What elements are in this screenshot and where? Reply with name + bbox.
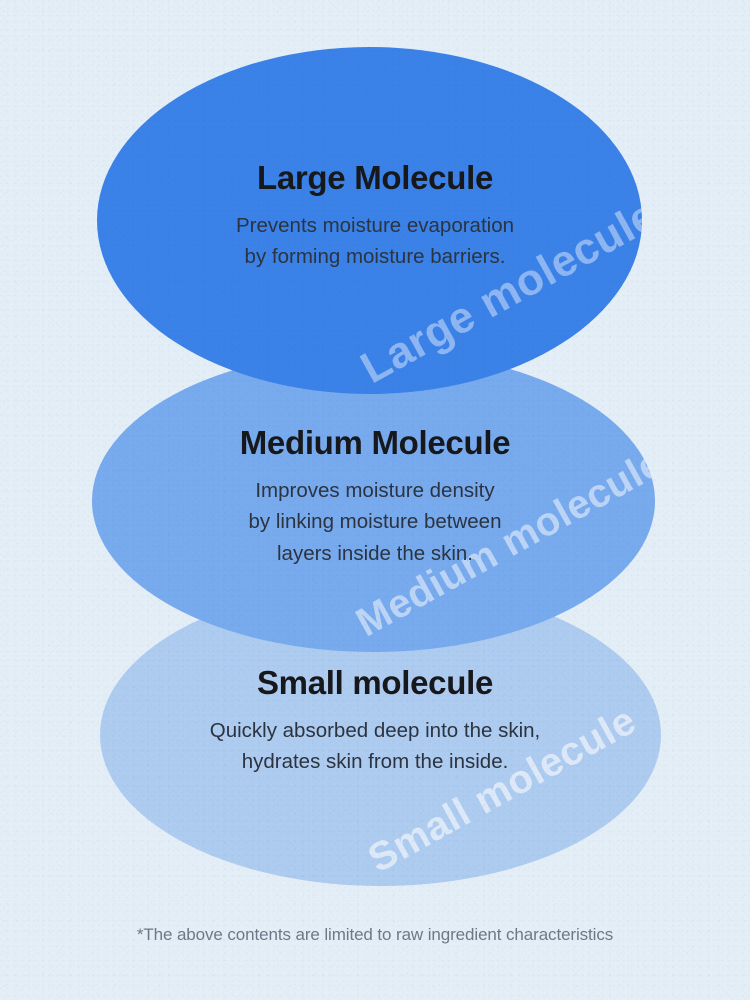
small-molecule-description-line-2: hydrates skin from the inside. — [0, 746, 750, 777]
large-molecule-title: Large Molecule — [0, 160, 750, 196]
small-molecule-description-line-1: Quickly absorbed deep into the skin, — [0, 715, 750, 746]
large-molecule-description: Prevents moisture evaporation by forming… — [0, 210, 750, 272]
medium-molecule-description-line-2: by linking moisture between — [0, 506, 750, 537]
molecule-size-infographic: Small molecule Medium molecule Large mol… — [0, 0, 750, 1000]
large-molecule-description-line-1: Prevents moisture evaporation — [0, 210, 750, 241]
large-molecule-card: Large Molecule Prevents moisture evapora… — [0, 160, 750, 273]
medium-molecule-title: Medium Molecule — [0, 425, 750, 461]
footnote-disclaimer: *The above contents are limited to raw i… — [0, 925, 750, 945]
large-molecule-description-line-2: by forming moisture barriers. — [0, 241, 750, 272]
small-molecule-title: Small molecule — [0, 665, 750, 701]
medium-molecule-description-line-3: layers inside the skin. — [0, 538, 750, 569]
medium-molecule-description-line-1: Improves moisture density — [0, 475, 750, 506]
medium-molecule-description: Improves moisture density by linking moi… — [0, 475, 750, 568]
small-molecule-card: Small molecule Quickly absorbed deep int… — [0, 665, 750, 778]
medium-molecule-card: Medium Molecule Improves moisture densit… — [0, 425, 750, 569]
small-molecule-description: Quickly absorbed deep into the skin, hyd… — [0, 715, 750, 777]
